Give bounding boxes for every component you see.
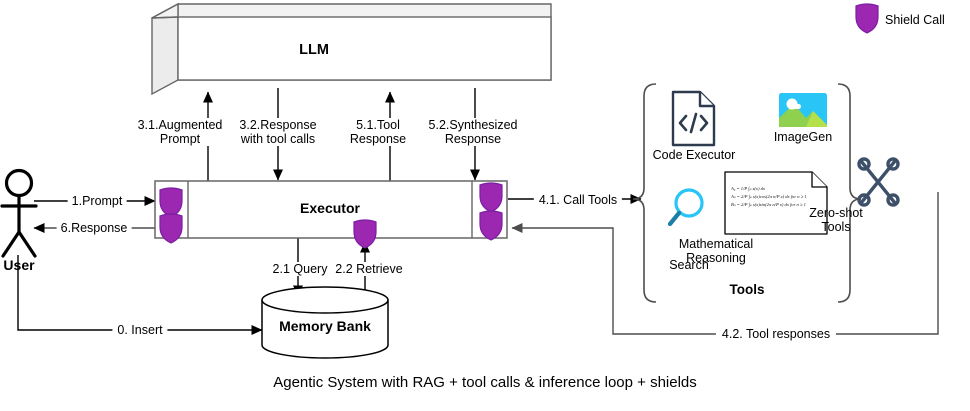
shield-icon-legend (856, 4, 878, 33)
edge-label-retrieve: 2.2 Retrieve (332, 262, 405, 276)
edge-label-call-tools: 4.1. Call Tools (534, 193, 622, 207)
image-picture-icon (779, 93, 827, 127)
math-line-1: A₀ = 1/P ∫ₚ s(x) dx (731, 185, 823, 193)
edge-label-query: 2.1 Query (270, 262, 331, 276)
tool-label-imagegen: ImageGen (774, 130, 832, 144)
magnifier-icon (670, 190, 702, 224)
edge-label-insert: 0. Insert (112, 323, 167, 337)
edge-label-tool-response: 5.1.Tool Response (347, 118, 409, 146)
edge-label-tool-responses: 4.2. Tool responses (716, 327, 836, 341)
diagram-caption: Agentic System with RAG + tool calls & i… (273, 376, 697, 390)
shield-icon (354, 220, 376, 248)
math-formula-lines: A₀ = 1/P ∫ₚ s(x) dx Aₙ = 2/P ∫ₚ s(x)cos(… (731, 185, 823, 209)
edge-label-response-tool-calls: 3.2.Response with tool calls (236, 118, 319, 146)
tool-label-code-executor: Code Executor (653, 148, 736, 162)
tool-label-zero-shot-tools: Zero-shot Tools (794, 206, 878, 234)
edge-label-prompt: 1.Prompt (68, 194, 127, 208)
legend-label: Shield Call (885, 13, 945, 27)
edge-label-response: 6.Response (57, 221, 132, 235)
math-line-3: Bₙ = 2/P ∫ₚ s(x)sin(2π n/P x) dx for n ≥… (731, 201, 823, 209)
user-label: User (3, 258, 34, 272)
math-line-2: Aₙ = 2/P ∫ₚ s(x)cos(2π n/P x) dx for n ≥… (731, 193, 823, 201)
user-actor[interactable] (2, 171, 36, 257)
llm-node[interactable] (152, 4, 551, 94)
tool-label-math-reasoning: Mathematical Reasoning (656, 237, 776, 265)
executor-label: Executor (300, 201, 360, 215)
edge-label-augmented-prompt: 3.1.Augmented Prompt (135, 118, 226, 146)
llm-label: LLM (299, 43, 329, 57)
crossed-wrenches-icon (859, 159, 898, 205)
edge-label-synthesized-response: 5.2.Synthesized Response (426, 118, 521, 146)
memory-bank-label: Memory Bank (279, 319, 371, 333)
code-document-icon (673, 92, 714, 145)
tools-group-label: Tools (730, 283, 765, 297)
